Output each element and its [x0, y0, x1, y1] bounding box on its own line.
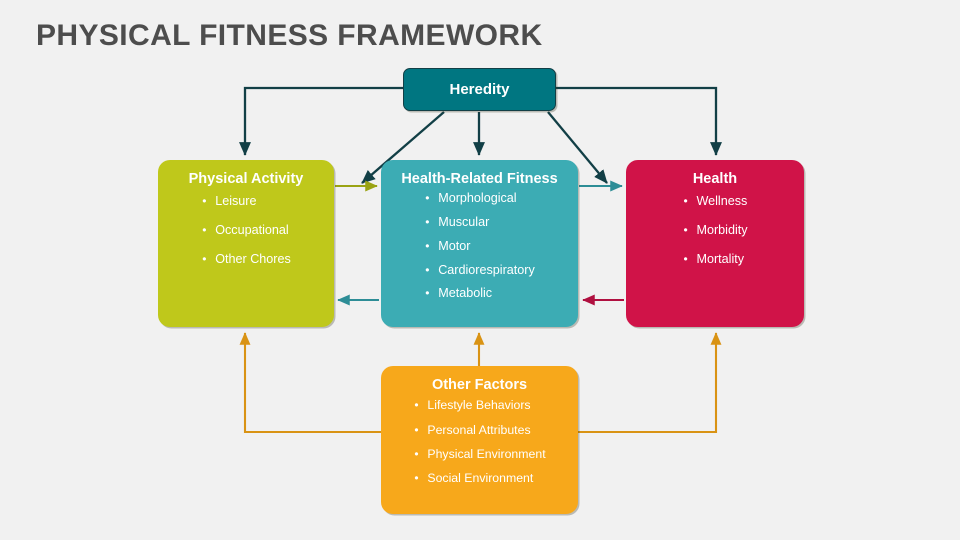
list-item: Metabolic	[424, 286, 535, 302]
node-health-title: Health	[626, 168, 804, 190]
list-item: Other Chores	[201, 252, 291, 268]
connector-heredity-to-physical-activity	[245, 88, 403, 155]
list-item: Cardiorespiratory	[424, 263, 535, 279]
list-item: Mortality	[682, 252, 747, 268]
list-item: Motor	[424, 239, 535, 255]
slide-canvas: PHYSICAL FITNESS FRAMEWORK	[0, 0, 960, 540]
node-health[interactable]: Health Wellness Morbidity Mortality	[626, 160, 804, 327]
node-other-factors-list: Lifestyle Behaviors Personal Attributes …	[413, 398, 545, 495]
connector-heredity-to-health	[556, 88, 716, 155]
connector-other-factors-to-health	[578, 333, 716, 432]
page-title: PHYSICAL FITNESS FRAMEWORK	[36, 19, 543, 53]
list-item: Personal Attributes	[413, 423, 545, 438]
node-other-factors-title: Other Factors	[381, 374, 578, 396]
node-physical-activity[interactable]: Physical Activity Leisure Occupational O…	[158, 160, 334, 327]
list-item: Morbidity	[682, 223, 747, 239]
node-health-related-fitness[interactable]: Health-Related Fitness Morphological Mus…	[381, 160, 578, 327]
list-item: Physical Environment	[413, 447, 545, 462]
list-item: Occupational	[201, 223, 291, 239]
node-heredity[interactable]: Heredity	[403, 68, 556, 111]
node-physical-activity-title: Physical Activity	[158, 168, 334, 190]
node-health-related-fitness-list: Morphological Muscular Motor Cardiorespi…	[424, 191, 535, 310]
node-physical-activity-list: Leisure Occupational Other Chores	[201, 194, 291, 280]
node-health-list: Wellness Morbidity Mortality	[682, 194, 747, 280]
list-item: Muscular	[424, 215, 535, 231]
list-item: Morphological	[424, 191, 535, 207]
node-other-factors[interactable]: Other Factors Lifestyle Behaviors Person…	[381, 366, 578, 514]
list-item: Lifestyle Behaviors	[413, 398, 545, 413]
node-health-related-fitness-title: Health-Related Fitness	[381, 168, 578, 190]
node-heredity-title: Heredity	[443, 78, 515, 101]
list-item: Wellness	[682, 194, 747, 210]
connector-other-factors-to-physical-activity	[245, 333, 381, 432]
list-item: Social Environment	[413, 471, 545, 486]
list-item: Leisure	[201, 194, 291, 210]
